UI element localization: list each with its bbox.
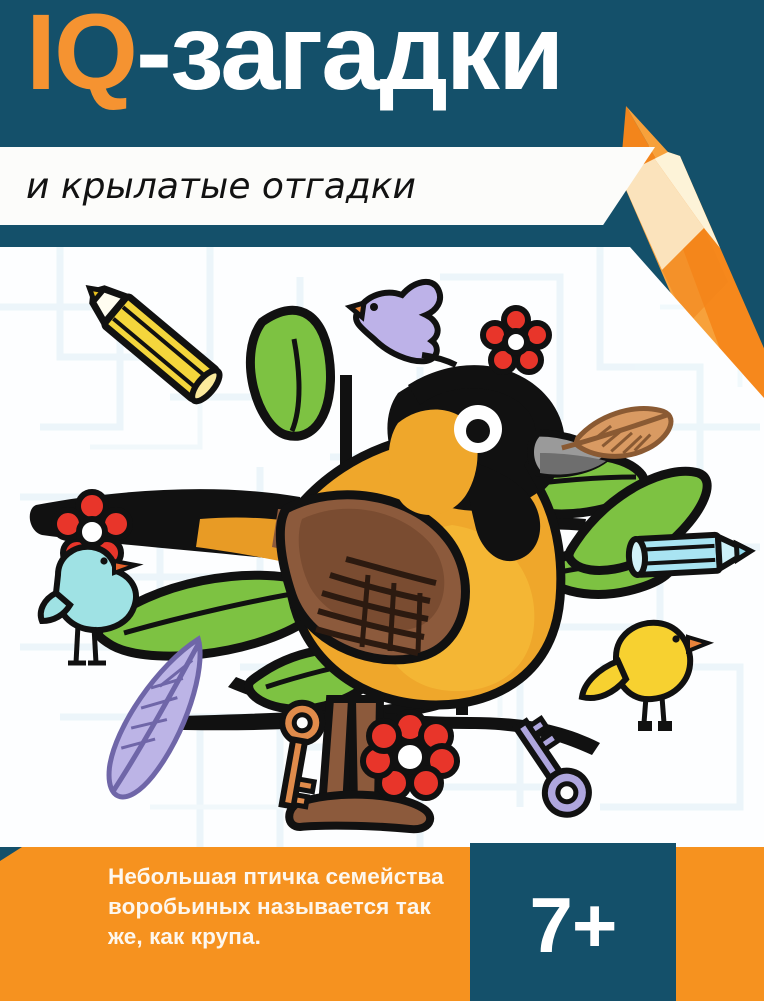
subtitle: и крылатые отгадки (26, 166, 416, 207)
yellow-bird-icon (582, 623, 708, 731)
riddle-text: Небольшая птичка семейства воробьиных на… (108, 862, 468, 952)
red-flower-icon (483, 308, 549, 372)
book-cover: IQ-загадки и крылатые отгадки (0, 0, 764, 1001)
purple-bird-icon (350, 282, 456, 365)
bird-illustration (0, 247, 764, 847)
subtitle-ribbon: и крылатые отгадки (0, 147, 655, 225)
blue-pencil-icon (628, 533, 752, 575)
title-rest: -загадки (136, 0, 562, 112)
age-rating-badge: 7+ (470, 843, 676, 1001)
title-accent: IQ (26, 0, 136, 112)
green-leaf-icon (250, 310, 330, 436)
illustration-panel (0, 247, 764, 847)
yellow-pencil-icon (77, 274, 224, 406)
red-flower-bottom-icon (363, 712, 457, 798)
age-rating-label: 7+ (530, 880, 617, 971)
page-title: IQ-загадки (26, 0, 562, 113)
